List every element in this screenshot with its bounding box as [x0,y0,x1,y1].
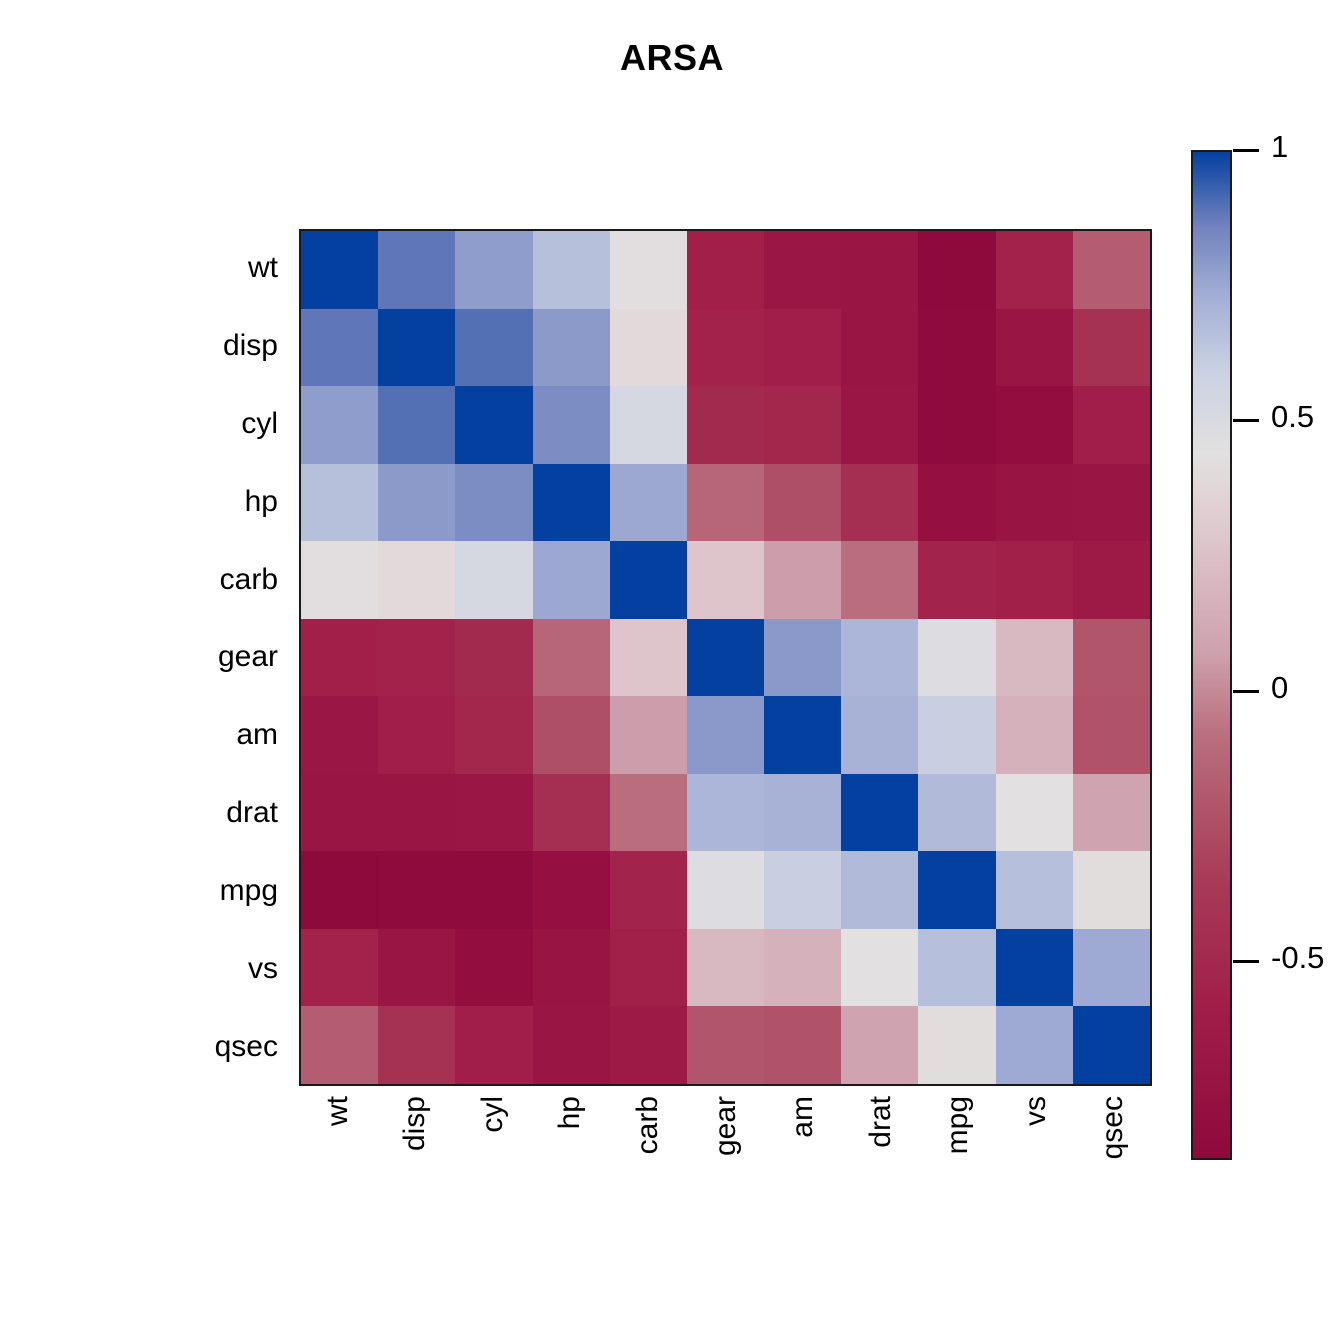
heatmap-cell [687,231,764,309]
heatmap-cell [378,386,455,464]
heatmap-cell [610,929,687,1007]
heatmap-cell [301,696,378,774]
heatmap-cell [378,929,455,1007]
heatmap-cell [841,774,918,852]
heatmap-cell [1073,541,1150,619]
heatmap-cell [378,696,455,774]
heatmap-cell [764,231,841,309]
heatmap-cell [687,851,764,929]
heatmap-cell [533,929,610,1007]
x-axis-tick-slot: disp [377,1090,455,1270]
color-legend-tick-mark [1233,149,1259,152]
x-axis-tick-label: am [788,1096,818,1138]
heatmap-cell [455,1006,532,1084]
y-axis-tick-label: mpg [120,852,280,930]
heatmap-cell [378,309,455,387]
heatmap-cell [841,541,918,619]
x-axis-tick-label: cyl [478,1096,508,1133]
heatmap-cell [455,309,532,387]
heatmap-cell [610,619,687,697]
heatmap-cell [996,231,1073,309]
x-axis-tick-label: mpg [943,1096,973,1154]
heatmap-cell [687,774,764,852]
heatmap-cell [1073,774,1150,852]
heatmap-cell [301,386,378,464]
heatmap-cell [301,231,378,309]
heatmap-cell [533,386,610,464]
heatmap-cell [841,619,918,697]
heatmap-cell [996,386,1073,464]
heatmap-cell [687,696,764,774]
heatmap-cell [455,386,532,464]
heatmap-cell [378,541,455,619]
heatmap-cell [533,774,610,852]
heatmap-cell [1073,929,1150,1007]
heatmap-cell [301,619,378,697]
heatmap-cell [378,231,455,309]
heatmap-cell [1073,309,1150,387]
y-axis-tick-label: cyl [120,385,280,463]
heatmap-cell [687,541,764,619]
x-axis-tick-slot: mpg [919,1090,997,1270]
heatmap-cell [301,1006,378,1084]
heatmap-cell [918,774,995,852]
heatmap-cell [455,231,532,309]
x-axis-tick-label: hp [555,1096,585,1129]
color-legend-gradient [1193,152,1230,1158]
heatmap-cell [533,309,610,387]
heatmap-cell [1073,1006,1150,1084]
heatmap-cell [301,541,378,619]
heatmap-cell [841,309,918,387]
heatmap-cell [918,309,995,387]
heatmap-cell [764,309,841,387]
y-axis-tick-label: gear [120,619,280,697]
heatmap-cell [455,851,532,929]
heatmap-cell [1073,696,1150,774]
page-title: ARSA [0,40,1344,76]
y-axis-tick-label: drat [120,774,280,852]
heatmap-cell [764,929,841,1007]
heatmap-cell [610,851,687,929]
heatmap-cell [610,1006,687,1084]
heatmap-cell [301,464,378,542]
heatmap-cell [455,541,532,619]
heatmap-cell [301,774,378,852]
heatmap-cell [764,619,841,697]
heatmap-cell [996,851,1073,929]
heatmap-cell [996,929,1073,1007]
heatmap-cell [455,696,532,774]
heatmap-cell [1073,386,1150,464]
x-axis-tick-slot: carb [609,1090,687,1270]
heatmap-cell [918,851,995,929]
y-axis-tick-label: vs [120,930,280,1008]
x-axis-tick-label: wt [323,1096,353,1126]
color-legend-tick-label: 0 [1271,672,1288,703]
heatmap-cell [610,464,687,542]
heatmap-cell [764,541,841,619]
heatmap-cell [764,851,841,929]
heatmap-cell [687,1006,764,1084]
heatmap-cell [610,774,687,852]
heatmap-cell [378,1006,455,1084]
heatmap-cell [1073,231,1150,309]
heatmap-cell [610,231,687,309]
heatmap-cell [1073,464,1150,542]
heatmap-cell [610,386,687,464]
x-axis-tick-label: gear [711,1096,741,1156]
heatmap-cell [918,696,995,774]
x-axis-tick-slot: hp [532,1090,610,1270]
heatmap-plot: ARSA wtdispcylhpcarbgearamdratmpgvsqsec … [0,0,1344,1344]
color-legend-tick-label: 1 [1271,131,1288,162]
color-legend-tick-mark [1233,690,1259,693]
heatmap-cell [378,619,455,697]
heatmap-cell [1073,619,1150,697]
heatmap-cell [996,541,1073,619]
x-axis-tick-slot: wt [299,1090,377,1270]
x-axis-tick-slot: qsec [1074,1090,1152,1270]
heatmap-cell [841,1006,918,1084]
heatmap-cell [533,696,610,774]
x-axis-tick-label: drat [866,1096,896,1148]
heatmap-cell [1073,851,1150,929]
heatmap-cell [918,541,995,619]
heatmap-cell [841,386,918,464]
heatmap-cell [378,464,455,542]
heatmap-cell [764,386,841,464]
heatmap-cell [996,619,1073,697]
y-axis-tick-labels: wtdispcylhpcarbgearamdratmpgvsqsec [120,229,280,1086]
heatmap-cell [996,309,1073,387]
x-axis-tick-slot: am [764,1090,842,1270]
heatmap-cell [378,851,455,929]
heatmap-cell [996,774,1073,852]
heatmap-panel [299,229,1152,1086]
heatmap-cell [378,774,455,852]
y-axis-tick-label: wt [120,229,280,307]
heatmap-cell [764,774,841,852]
heatmap-cell [533,851,610,929]
x-axis-tick-label: qsec [1098,1096,1128,1159]
y-axis-tick-label: hp [120,463,280,541]
heatmap-grid [301,231,1150,1084]
heatmap-cell [533,541,610,619]
heatmap-cell [918,231,995,309]
heatmap-cell [610,541,687,619]
heatmap-cell [455,619,532,697]
color-legend-ticks: 10.50-0.5 [1233,0,1343,1344]
x-axis-tick-slot: cyl [454,1090,532,1270]
color-legend-tick-mark [1233,960,1259,963]
heatmap-cell [533,619,610,697]
color-legend-tick-label: 0.5 [1271,401,1314,432]
heatmap-cell [455,464,532,542]
heatmap-cell [610,696,687,774]
heatmap-cell [764,696,841,774]
color-legend [1191,150,1232,1160]
heatmap-cell [687,929,764,1007]
x-axis-tick-label: disp [400,1096,430,1151]
y-axis-tick-label: disp [120,307,280,385]
x-axis-tick-labels: wtdispcylhpcarbgearamdratmpgvsqsec [299,1090,1152,1270]
heatmap-cell [610,309,687,387]
heatmap-cell [687,386,764,464]
heatmap-cell [841,696,918,774]
heatmap-cell [918,1006,995,1084]
heatmap-cell [455,929,532,1007]
heatmap-cell [841,464,918,542]
x-axis-tick-slot: drat [842,1090,920,1270]
color-legend-tick-mark [1233,419,1259,422]
color-legend-tick-label: -0.5 [1271,942,1324,973]
x-axis-tick-label: vs [1021,1096,1051,1126]
heatmap-cell [455,774,532,852]
y-axis-tick-label: qsec [120,1008,280,1086]
heatmap-cell [918,619,995,697]
heatmap-cell [687,309,764,387]
heatmap-cell [301,309,378,387]
heatmap-cell [301,851,378,929]
heatmap-cell [533,231,610,309]
heatmap-cell [687,464,764,542]
x-axis-tick-slot: vs [997,1090,1075,1270]
heatmap-cell [764,1006,841,1084]
heatmap-cell [996,696,1073,774]
x-axis-tick-slot: gear [687,1090,765,1270]
heatmap-cell [533,1006,610,1084]
heatmap-cell [996,464,1073,542]
heatmap-cell [533,464,610,542]
heatmap-cell [841,929,918,1007]
heatmap-cell [301,929,378,1007]
y-axis-tick-label: carb [120,541,280,619]
x-axis-tick-label: carb [633,1096,663,1154]
y-axis-tick-label: am [120,696,280,774]
heatmap-cell [841,231,918,309]
heatmap-cell [918,929,995,1007]
heatmap-cell [841,851,918,929]
heatmap-cell [764,464,841,542]
heatmap-cell [687,619,764,697]
heatmap-cell [918,464,995,542]
heatmap-cell [996,1006,1073,1084]
heatmap-cell [918,386,995,464]
